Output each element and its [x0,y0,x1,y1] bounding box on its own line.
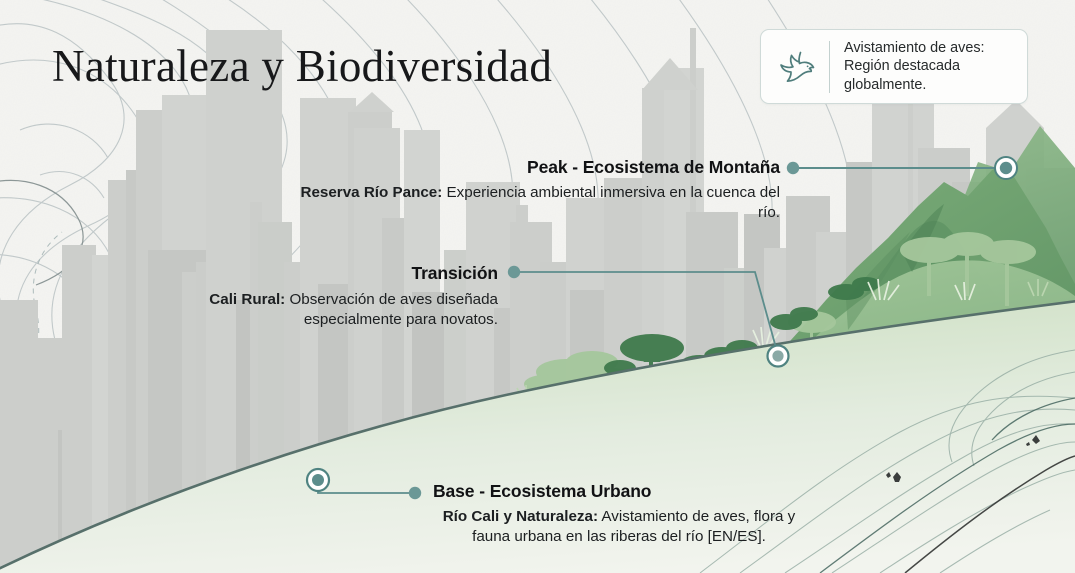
bird-watching-badge: Avistamiento de aves: Región destacada g… [760,29,1028,104]
callout-transicion-body: Cali Rural: Observación de aves diseñada… [120,290,498,329]
page-title: Naturaleza y Biodiversidad [52,40,552,92]
bird-dove-icon [775,44,821,90]
callout-peak-heading: Peak - Ecosistema de Montaña [300,157,780,178]
callout-transicion: Transición Cali Rural: Observación de av… [120,263,498,329]
marker-transicion[interactable] [768,346,789,367]
leader-dot-base [409,487,421,499]
leader-dot-transicion [508,266,520,278]
badge-text: Avistamiento de aves: Región destacada g… [844,39,985,95]
marker-peak[interactable] [995,157,1017,179]
callout-base: Base - Ecosistema Urbano Río Cali y Natu… [433,481,853,546]
marker-base[interactable] [307,469,329,491]
callout-peak: Peak - Ecosistema de Montaña Reserva Río… [300,157,780,222]
callout-transicion-rest: Observación de aves diseñada especialmen… [285,291,498,328]
infographic-canvas: Naturaleza y Biodiversidad Avistamiento … [0,0,1075,573]
callout-base-body: Río Cali y Naturaleza: Avistamiento de a… [433,507,805,546]
callout-base-heading: Base - Ecosistema Urbano [433,481,853,502]
badge-divider [829,41,830,93]
callout-transicion-lead: Cali Rural: [209,291,285,308]
leader-dot-peak [787,162,799,174]
callout-base-lead: Río Cali y Naturaleza: [443,508,598,525]
callout-transicion-heading: Transición [120,263,498,284]
callout-peak-lead: Reserva Río Pance: [300,184,442,201]
callout-peak-body: Reserva Río Pance: Experiencia ambiental… [300,183,780,222]
callout-peak-rest: Experiencia ambiental inmersiva en la cu… [442,184,780,221]
